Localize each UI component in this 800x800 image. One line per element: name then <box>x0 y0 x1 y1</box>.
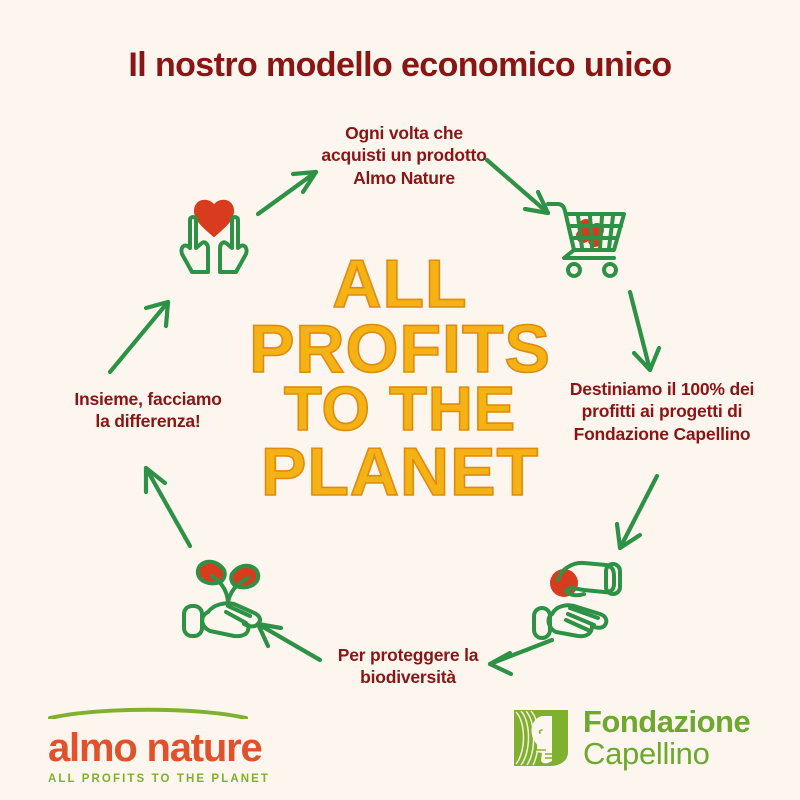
purchase-line-2: acquisti un prodotto <box>288 144 520 166</box>
together-line-2: la differenza! <box>42 410 254 432</box>
step-label-purchase: Ogni volta che acquisti un prodotto Almo… <box>288 122 520 189</box>
slogan-line-2: PROFITS <box>210 317 590 382</box>
slogan-line-1: ALL <box>210 252 590 317</box>
arrow-sprout-to-together <box>146 468 190 546</box>
arrow-profits-to-giving <box>617 476 657 548</box>
arrow-cart-to-profits <box>630 292 659 370</box>
center-slogan: ALL PROFITS TO THE PLANET <box>210 252 590 505</box>
profits-line-3: Fondazione Capellino <box>542 423 782 445</box>
purchase-line-3: Almo Nature <box>288 167 520 189</box>
slogan-line-3: TO THE <box>210 381 590 440</box>
fondazione-capellino-text: Fondazione Capellino <box>583 706 750 769</box>
almo-nature-logo: almo nature ALL PROFITS TO THE PLANET <box>48 706 270 785</box>
slogan-line-4: PLANET <box>210 440 590 505</box>
fc-line-fondazione: Fondazione <box>583 706 750 738</box>
purchase-line-1: Ogni volta che <box>288 122 520 144</box>
arrow-together-to-heart <box>110 302 168 372</box>
almo-nature-tagline: ALL PROFITS TO THE PLANET <box>48 773 270 785</box>
page-title: Il nostro modello economico unico <box>0 46 800 85</box>
almo-nature-wordmark: almo nature <box>48 728 270 768</box>
biodiversity-line-2: biodiversità <box>298 666 518 688</box>
giving-hands-coin-icon <box>522 546 630 642</box>
profits-line-2: profitti ai progetti di <box>542 400 782 422</box>
fc-line-capellino: Capellino <box>583 738 750 770</box>
biodiversity-line-1: Per proteggere la <box>298 644 518 666</box>
step-label-together: Insieme, facciamo la differenza! <box>42 388 254 433</box>
hand-sprout-icon <box>176 546 280 640</box>
step-label-biodiversity: Per proteggere la biodiversità <box>298 644 518 689</box>
shopping-cart-icon <box>538 188 642 284</box>
infographic-canvas: Il nostro modello economico unico <box>0 0 800 800</box>
profits-line-1: Destiniamo il 100% dei <box>542 378 782 400</box>
hands-heart-icon <box>162 186 266 282</box>
almo-nature-arc-icon <box>48 707 248 719</box>
woman-profile-mark-icon <box>512 708 570 768</box>
fondazione-capellino-logo: Fondazione Capellino <box>512 706 750 769</box>
step-label-profits: Destiniamo il 100% dei profitti ai proge… <box>542 378 782 445</box>
together-line-1: Insieme, facciamo <box>42 388 254 410</box>
